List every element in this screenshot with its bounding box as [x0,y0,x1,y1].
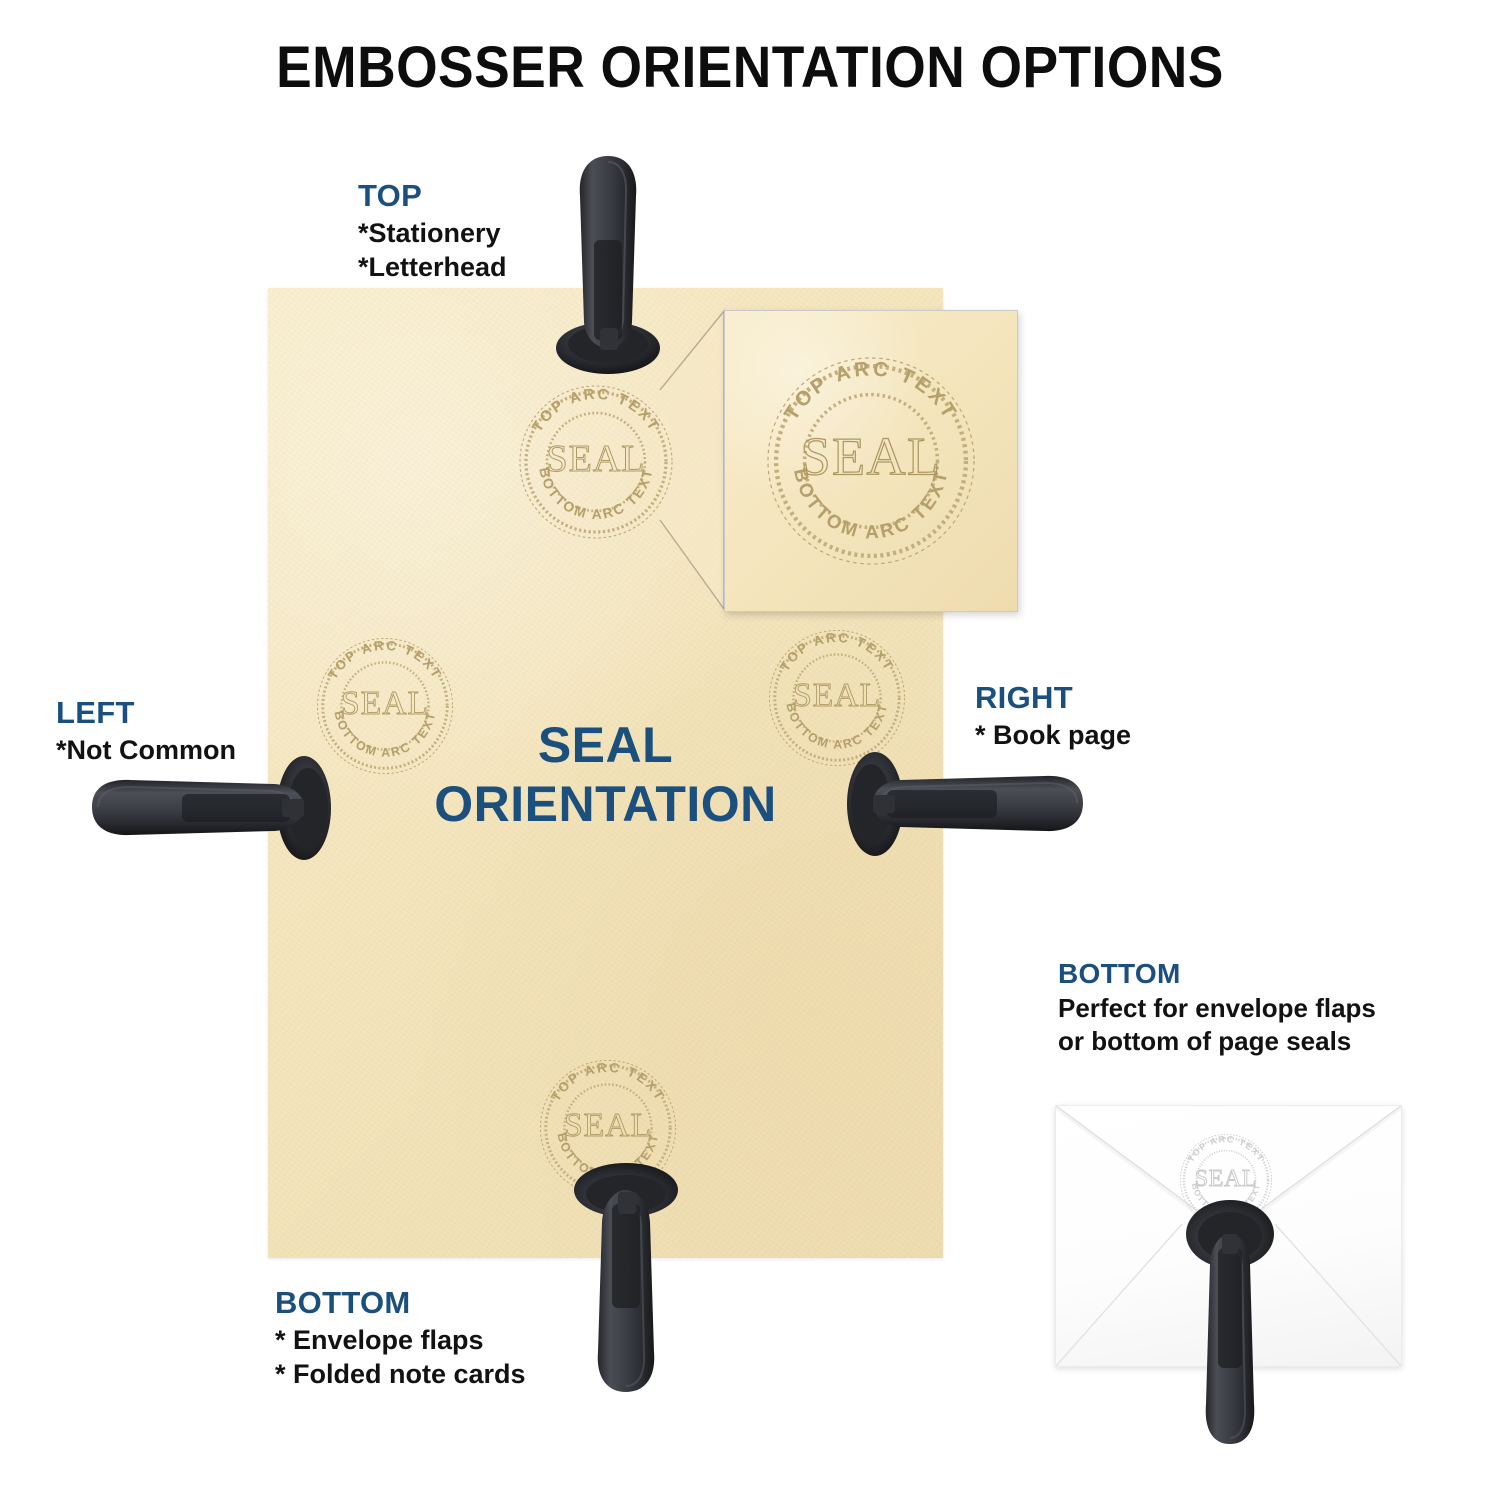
svg-text:TOP ARC TEXT: TOP ARC TEXT [529,386,663,435]
page-title: EMBOSSER ORIENTATION OPTIONS [60,34,1440,101]
seal-top-arc: TOP ARC TEXT [1185,1134,1266,1164]
embosser-tool-right[interactable] [845,748,1090,858]
label-bottom-left-line-1: * Envelope flaps [275,1323,526,1358]
caption-line-1: SEAL [268,716,943,775]
label-bottom-left-heading: BOTTOM [275,1285,526,1321]
seal-center-text: SEAL [801,427,942,487]
label-block-bottom-right: BOTTOM Perfect for envelope flaps or bot… [1058,958,1376,1059]
label-right-heading: RIGHT [975,680,1131,716]
label-bottom-right-heading: BOTTOM [1058,958,1376,990]
seal-top-arc: TOP ARC TEXT [529,386,663,435]
seal-top-arc: TOP ARC TEXT [777,630,897,674]
svg-text:TOP ARC TEXT: TOP ARC TEXT [780,358,961,424]
label-top-heading: TOP [358,178,507,214]
label-block-left: LEFT *Not Common [56,695,236,767]
svg-text:TOP ARC TEXT: TOP ARC TEXT [1185,1134,1266,1164]
seal-top-arc: TOP ARC TEXT [325,638,445,682]
seal-orientation-caption: SEAL ORIENTATION [268,716,943,834]
embosser-tool-top[interactable] [548,152,668,382]
seal-top-arc: TOP ARC TEXT [780,358,961,424]
label-left-heading: LEFT [56,695,236,731]
label-block-right: RIGHT * Book page [975,680,1131,752]
embosser-tool-left[interactable] [86,752,346,862]
label-top-line-2: *Letterhead [358,250,507,285]
embosser-tool-envelope[interactable] [1182,1198,1278,1448]
embosser-tool-bottom[interactable] [566,1148,686,1398]
seal-center-text: SEAL [1195,1166,1257,1192]
label-bottom-right-line-2: or bottom of page seals [1058,1025,1376,1058]
seal-impression-top: TOP ARC TEXT BOTTOM ARC TEXT SEAL [506,372,686,552]
seal-center-text: SEAL [793,677,881,714]
label-bottom-right-line-1: Perfect for envelope flaps [1058,992,1376,1025]
label-right-line-1: * Book page [975,718,1131,753]
magnified-seal-callout: TOP ARC TEXT BOTTOM ARC TEXT SEAL [724,310,1018,612]
svg-text:TOP ARC TEXT: TOP ARC TEXT [325,638,445,682]
svg-text:TOP ARC TEXT: TOP ARC TEXT [777,630,897,674]
label-left-line-1: *Not Common [56,733,236,768]
caption-line-2: ORIENTATION [268,775,943,834]
seal-center-text: SEAL [564,1107,652,1144]
label-block-bottom-left: BOTTOM * Envelope flaps * Folded note ca… [275,1285,526,1392]
infographic-canvas: EMBOSSER ORIENTATION OPTIONS TOP ARC TEX… [0,0,1500,1500]
label-bottom-left-line-2: * Folded note cards [275,1357,526,1392]
seal-top-arc: TOP ARC TEXT [548,1060,668,1104]
svg-text:TOP ARC TEXT: TOP ARC TEXT [548,1060,668,1104]
label-top-line-1: *Stationery [358,216,507,251]
seal-center-text: SEAL [547,438,646,480]
label-block-top: TOP *Stationery *Letterhead [358,178,507,285]
seal-impression-magnified: TOP ARC TEXT BOTTOM ARC TEXT SEAL [749,339,993,583]
